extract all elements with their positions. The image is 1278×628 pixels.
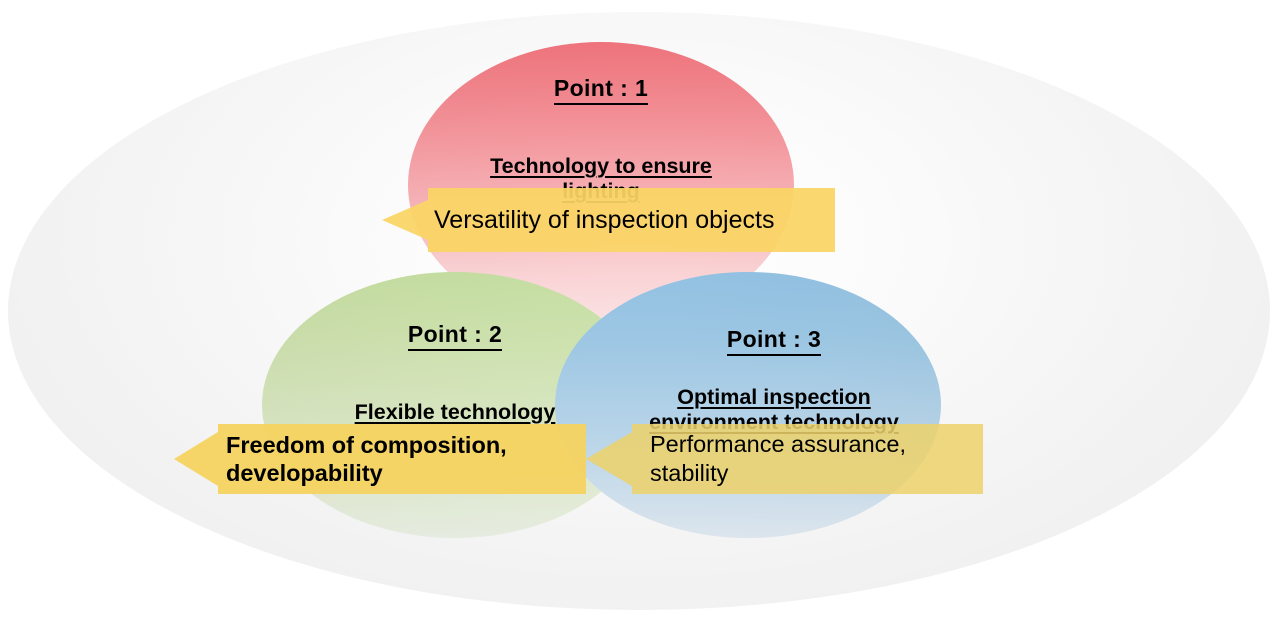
point1-text-block: Point : 1 Technology to ensure lighting — [409, 56, 793, 205]
spacer — [409, 105, 793, 135]
callout-versatility: Versatility of inspection objects — [382, 188, 835, 252]
point2-heading: Point : 2 — [408, 321, 502, 351]
point3-text-block: Point : 3 Optimal inspection environment… — [605, 307, 943, 436]
callout-versatility-label: Versatility of inspection objects — [434, 206, 774, 235]
diagram-canvas: Point : 1 Technology to ensure lighting … — [0, 0, 1278, 628]
point2-text-block: Point : 2 Flexible technology — [262, 302, 648, 425]
callout-freedom: Freedom of composition, developability — [174, 424, 586, 494]
spacer — [262, 351, 648, 381]
callout-performance: Performance assurance, stability — [586, 424, 983, 494]
callout-freedom-label: Freedom of composition, developability — [226, 431, 507, 487]
point2-body: Flexible technology — [355, 400, 556, 424]
callout-performance-label: Performance assurance, stability — [650, 430, 906, 487]
spacer — [605, 356, 943, 366]
point3-heading: Point : 3 — [727, 326, 821, 356]
point1-heading: Point : 1 — [554, 75, 648, 105]
